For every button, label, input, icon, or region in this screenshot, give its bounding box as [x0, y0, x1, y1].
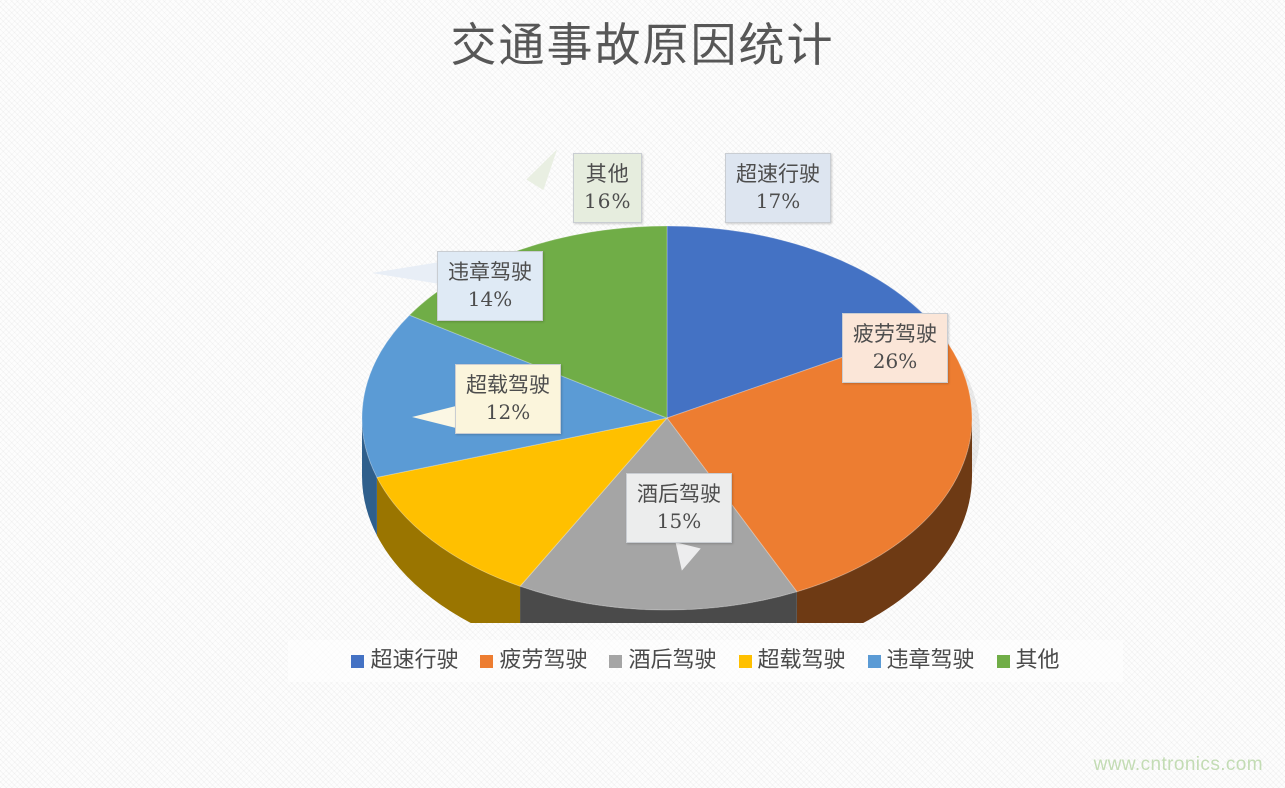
data-label-name: 超速行驶 — [736, 160, 820, 188]
legend-swatch-icon — [997, 655, 1010, 668]
data-label-value: 12% — [466, 399, 550, 425]
data-label-weizhang: 违章驾驶 14% — [437, 251, 543, 321]
data-label-value: 26% — [853, 348, 937, 374]
legend-swatch-icon — [739, 655, 752, 668]
legend-label: 超速行驶 — [370, 648, 458, 674]
legend-label: 违章驾驶 — [887, 648, 975, 674]
data-label-name: 超载驾驶 — [466, 371, 550, 399]
data-label-name: 疲劳驾驶 — [853, 320, 937, 348]
legend-item-6[interactable]: 其他 — [997, 648, 1060, 674]
watermark: www.cntronics.com — [1094, 754, 1263, 776]
data-label-value: 14% — [448, 286, 532, 312]
legend-label: 超载驾驶 — [758, 648, 846, 674]
data-label-value: 16% — [584, 188, 631, 214]
data-label-name: 酒后驾驶 — [637, 480, 721, 508]
data-label-jiuhou: 酒后驾驶 15% — [626, 473, 732, 543]
data-label-value: 17% — [736, 188, 820, 214]
callout-tail-wzjs — [372, 262, 440, 284]
legend-swatch-icon — [480, 655, 493, 668]
data-label-name: 违章驾驶 — [448, 258, 532, 286]
legend-item-4[interactable]: 超载驾驶 — [739, 648, 846, 674]
chart-canvas: 交通事故原因统计 超速行驶 17% 疲劳驾驶 26% 酒后驾驶 15% — [0, 0, 1285, 788]
data-label-chaozai: 超载驾驶 12% — [455, 364, 561, 434]
legend-item-3[interactable]: 酒后驾驶 — [609, 648, 716, 674]
legend-item-1[interactable]: 超速行驶 — [351, 648, 458, 674]
legend-swatch-icon — [868, 655, 881, 668]
chart-legend: 超速行驶疲劳驾驶酒后驾驶超载驾驶违章驾驶其他 — [288, 640, 1123, 682]
data-label-chaosu: 超速行驶 17% — [725, 153, 831, 223]
data-label-value: 15% — [637, 508, 721, 534]
legend-item-2[interactable]: 疲劳驾驶 — [480, 648, 587, 674]
chart-title: 交通事故原因统计 — [0, 14, 1285, 76]
data-label-pilao: 疲劳驾驶 26% — [842, 313, 948, 383]
legend-label: 其他 — [1016, 648, 1060, 674]
data-label-name: 其他 — [584, 160, 631, 188]
legend-label: 酒后驾驶 — [628, 648, 716, 674]
callout-tail-czjs — [412, 405, 460, 429]
data-label-qita: 其他 16% — [573, 153, 642, 223]
legend-swatch-icon — [351, 655, 364, 668]
legend-swatch-icon — [609, 655, 622, 668]
legend-label: 疲劳驾驶 — [499, 648, 587, 674]
legend-item-5[interactable]: 违章驾驶 — [868, 648, 975, 674]
